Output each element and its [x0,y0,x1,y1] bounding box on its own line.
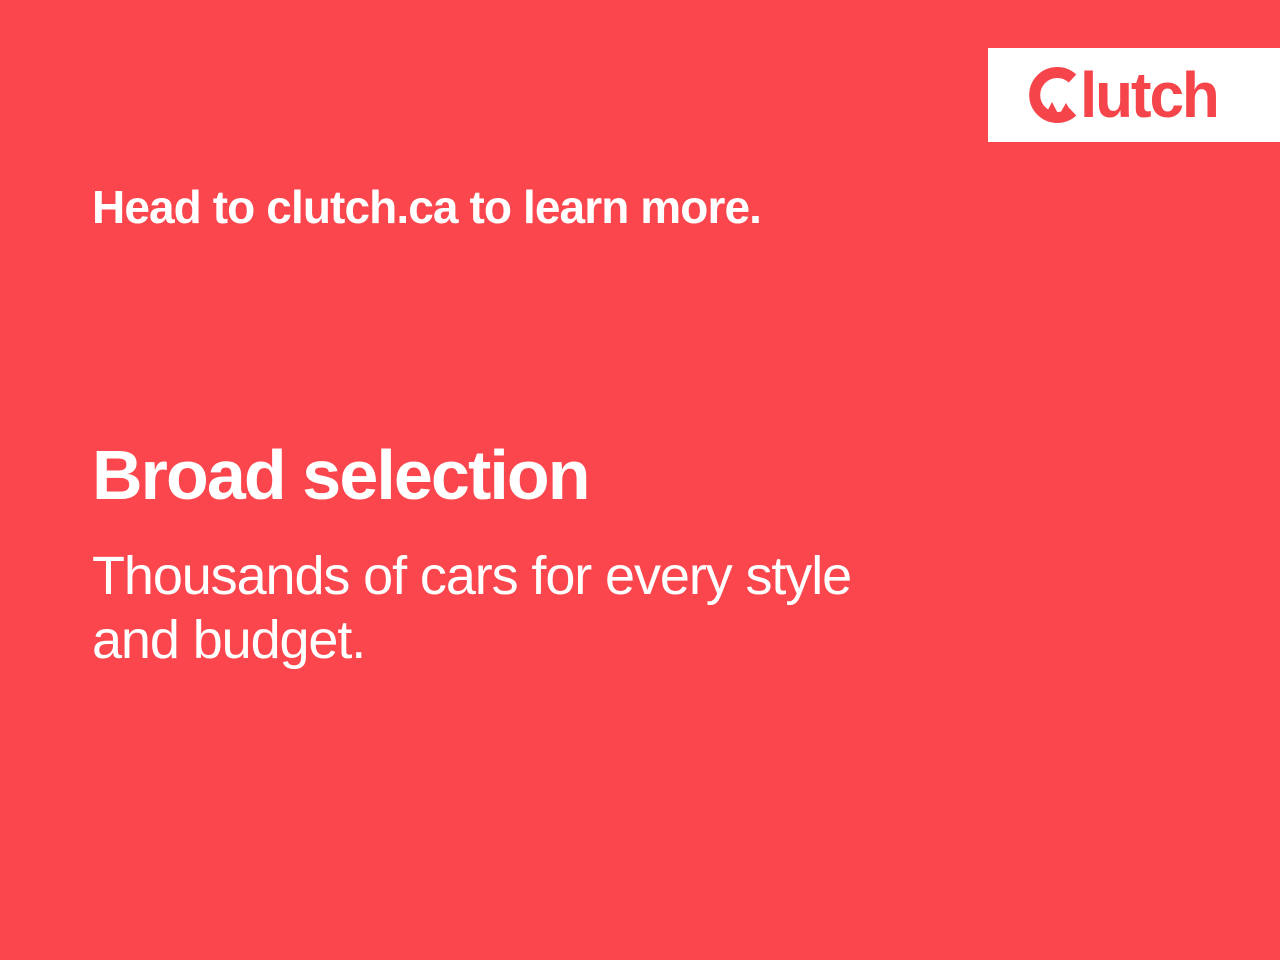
clutch-logo-lockup: lutch [1026,64,1222,126]
eyebrow-text: Head to clutch.ca to learn more. [92,178,761,236]
subheadline-line-1: Thousands of cars for every style [92,544,1052,608]
subheadline-line-2: and budget. [92,608,1052,672]
clutch-wordmark: lutch [1080,66,1218,124]
slide-canvas: lutch Head to clutch.ca to learn more. B… [0,0,1280,960]
subheadline-text: Thousands of cars for every style and bu… [92,544,1052,672]
clutch-c-mark-icon [1026,66,1078,124]
headline-text: Broad selection [92,436,589,514]
clutch-logo-plaque[interactable]: lutch [988,48,1280,142]
